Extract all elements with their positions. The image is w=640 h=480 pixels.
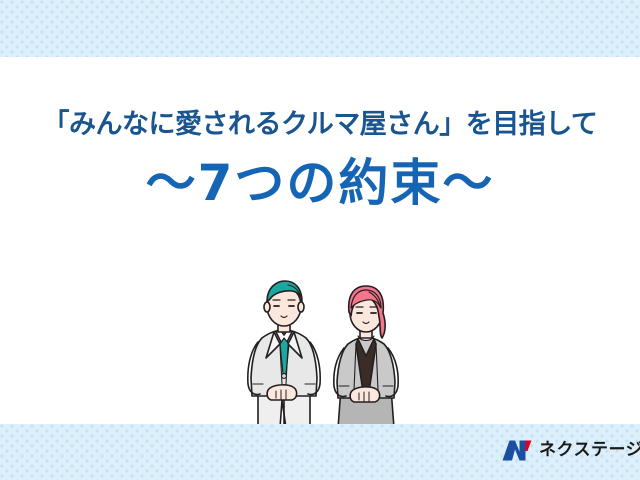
brand-logo-text: ネクステージ [539, 442, 640, 459]
staff-illustration [236, 272, 416, 428]
male-staff-figure [248, 281, 320, 428]
female-staff-figure [334, 286, 398, 428]
top-dotted-band [0, 0, 640, 57]
headline-block: 「みんなに愛されるクルマ屋さん」を目指して 〜7つの約束〜 [0, 108, 640, 211]
headline-primary-text: 「みんなに愛されるクルマ屋さん」を目指して [0, 108, 640, 142]
poster-canvas: 「みんなに愛されるクルマ屋さん」を目指して 〜7つの約束〜 [0, 0, 640, 480]
brand-logo: ネクステージ [502, 440, 640, 461]
headline-secondary-text: 〜7つの約束〜 [0, 156, 640, 211]
nextage-n-logo-icon [502, 440, 532, 461]
